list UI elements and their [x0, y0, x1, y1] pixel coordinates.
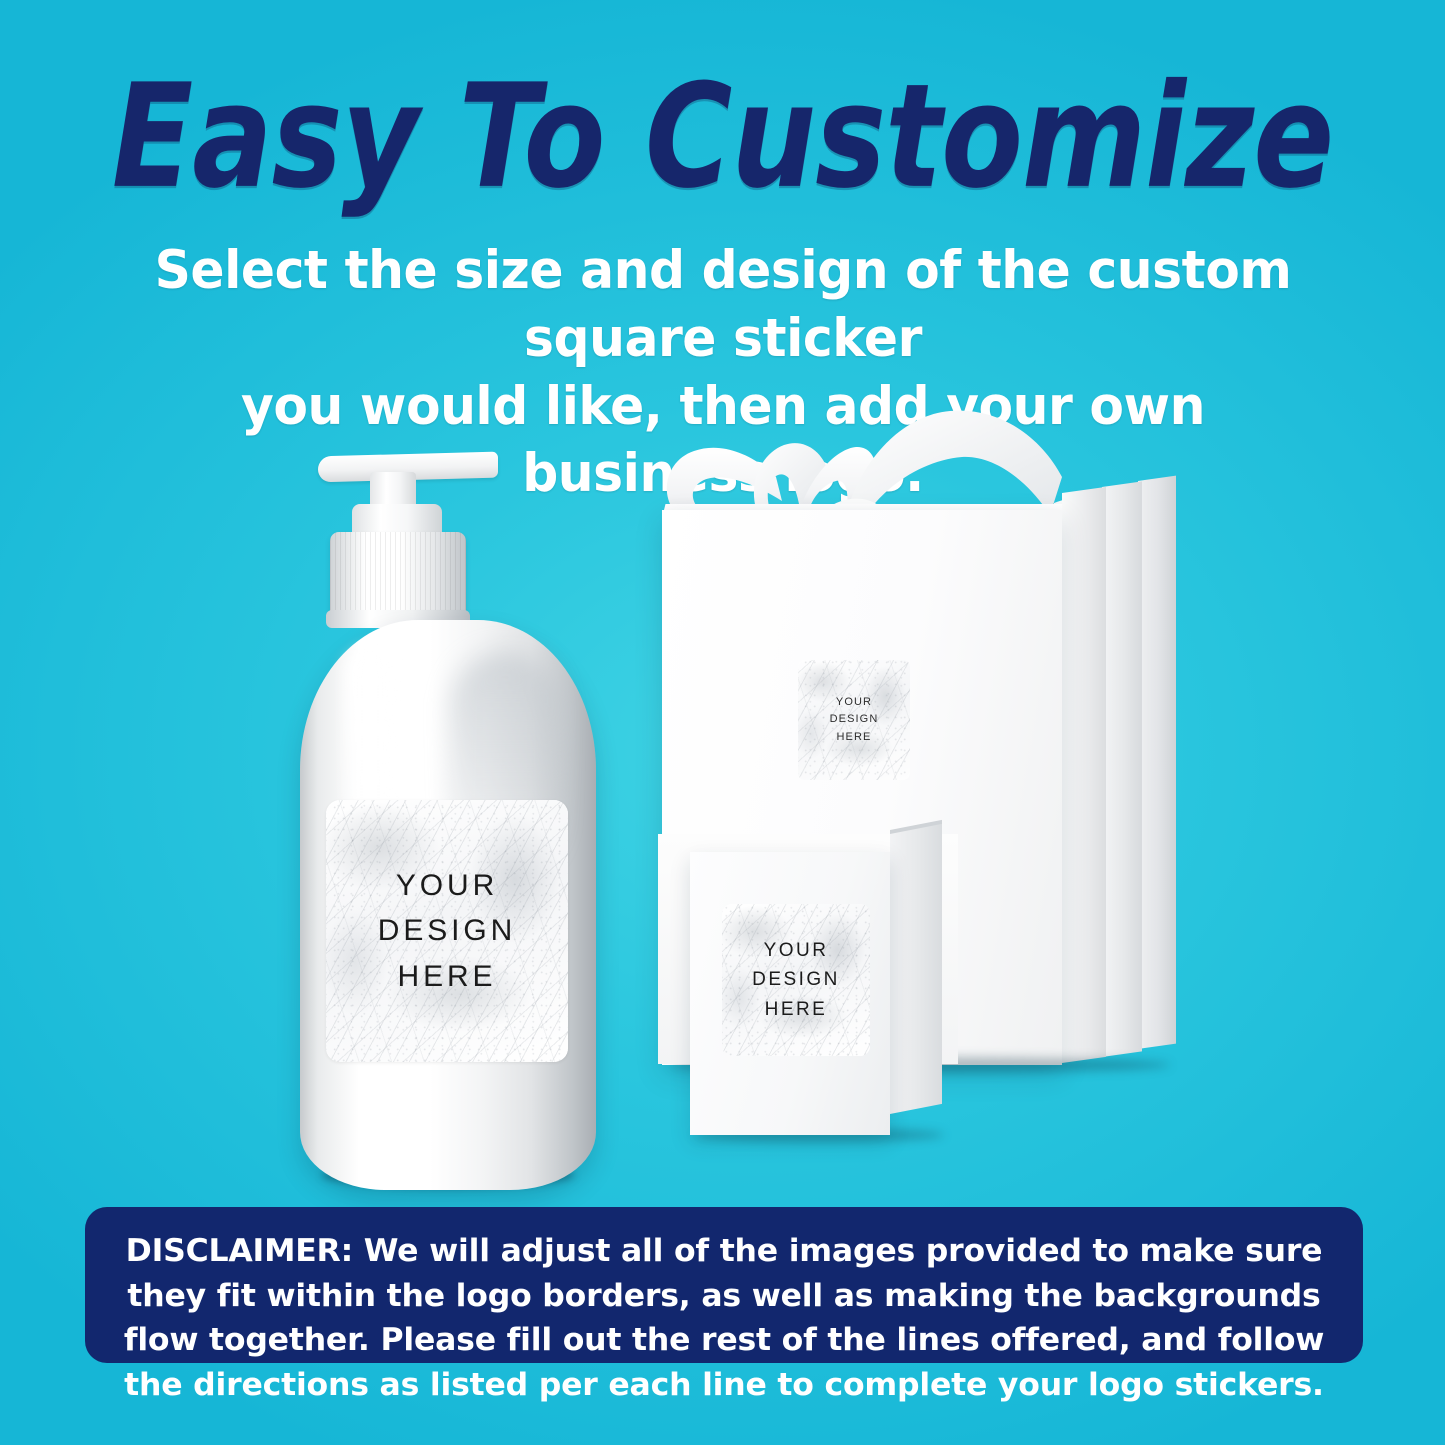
disclaimer-label: DISCLAIMER: [126, 1233, 353, 1269]
gift-box-side-a [1062, 487, 1106, 1063]
sticker-on-small-box[interactable]: YOUR DESIGN HERE [722, 904, 870, 1056]
label-line-3: HERE [398, 954, 497, 1000]
product-scene: YOUR DESIGN HERE YOUR DESIGN [0, 370, 1445, 1200]
disclaimer-box: DISCLAIMER: We will adjust all of the im… [85, 1207, 1363, 1363]
gift-box-side-c [1138, 476, 1176, 1049]
sticker-line-3: HERE [837, 729, 872, 747]
bottle-cap [330, 532, 466, 617]
label-line-1: YOUR [396, 863, 498, 909]
label-line-2: DESIGN [378, 908, 516, 954]
small-product-box: YOUR DESIGN HERE [672, 842, 962, 1147]
sticker-line-2: DESIGN [752, 965, 840, 994]
sticker-line-3: HERE [765, 995, 828, 1024]
small-box-side-face [890, 824, 942, 1114]
sticker-line-1: YOUR [836, 694, 872, 712]
sticker-text: YOUR DESIGN HERE [798, 660, 910, 780]
sticker-line-2: DESIGN [830, 711, 879, 729]
sticker-on-gift-box[interactable]: YOUR DESIGN HERE [798, 660, 910, 780]
sticker-line-1: YOUR [764, 936, 829, 965]
pump-bottle: YOUR DESIGN HERE [300, 420, 600, 1190]
gift-box-side-b [1102, 481, 1142, 1057]
label-on-bottle[interactable]: YOUR DESIGN HERE [326, 800, 568, 1062]
label-text: YOUR DESIGN HERE [326, 800, 568, 1062]
subtitle-line-1: Select the size and design of the custom… [129, 237, 1317, 373]
sticker-text: YOUR DESIGN HERE [722, 904, 870, 1056]
page-title: Easy To Customize [51, 66, 1395, 209]
promo-graphic: Easy To Customize Select the size and de… [0, 0, 1445, 1445]
